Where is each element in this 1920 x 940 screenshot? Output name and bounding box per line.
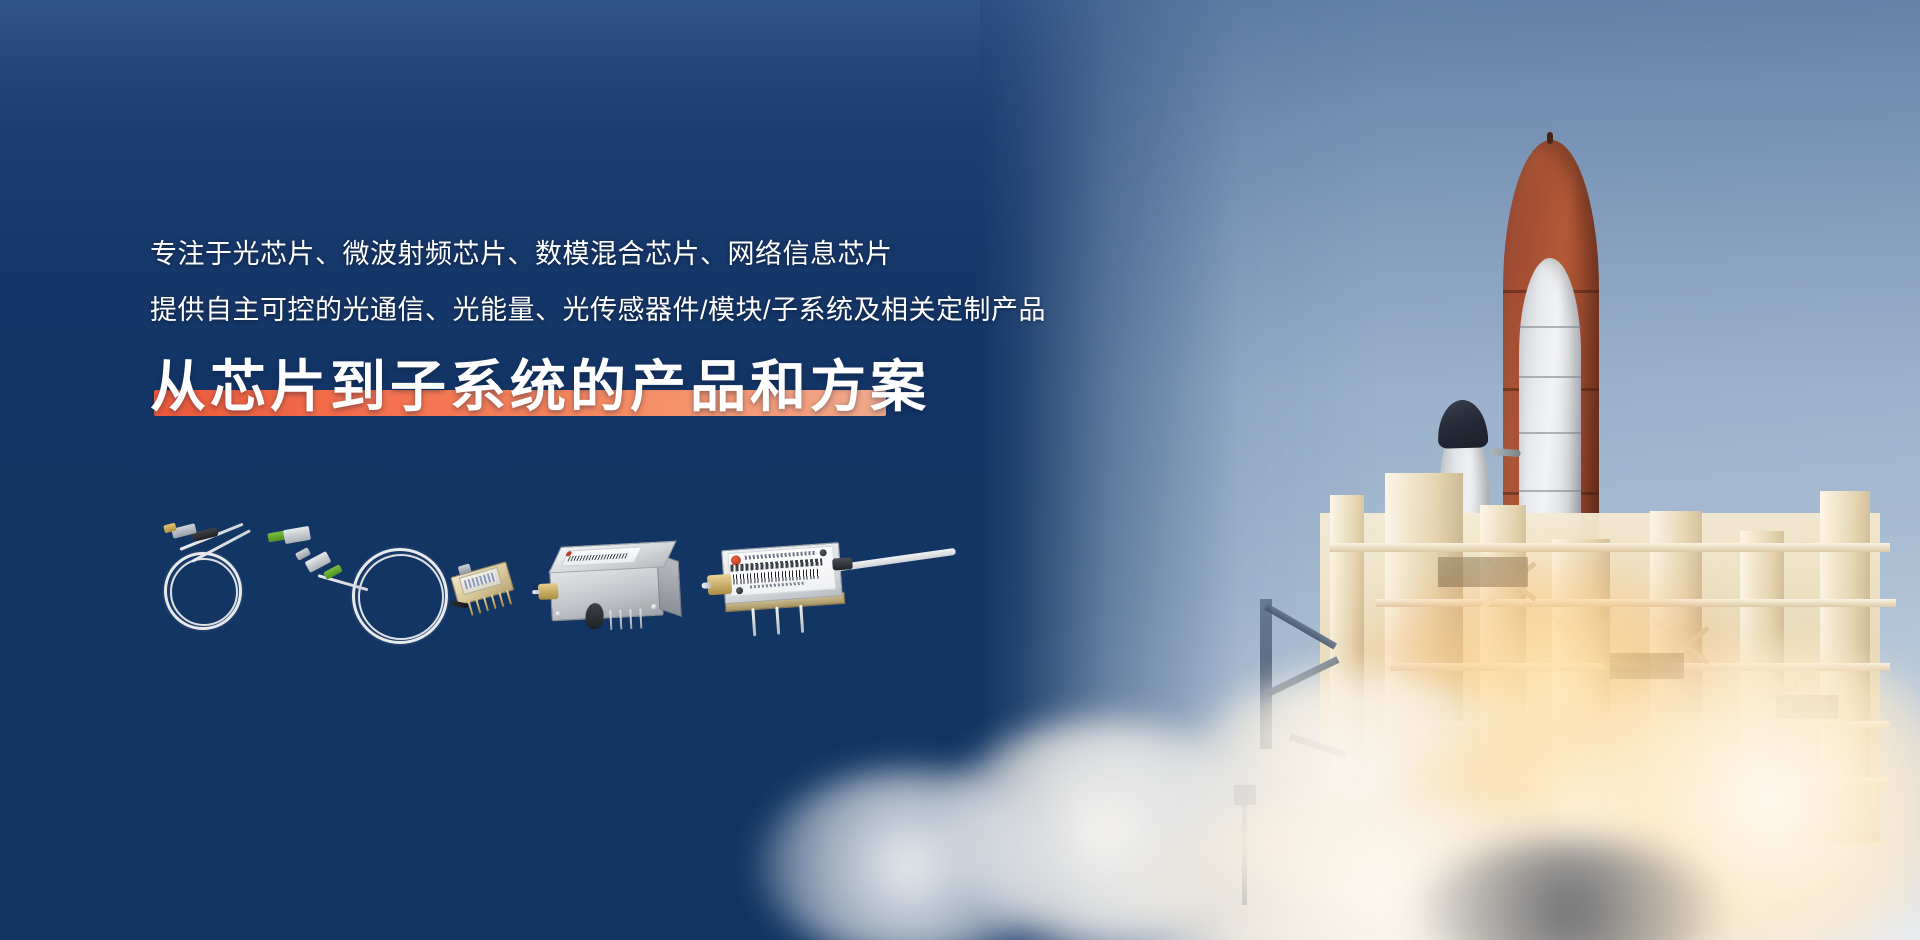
subtitle-line-1: 专注于光芯片、微波射频芯片、数模混合芯片、网络信息芯片 (150, 228, 1150, 280)
booster-band (1519, 376, 1581, 378)
butterfly-pin (498, 592, 504, 607)
product-rf-metal-module (548, 541, 680, 630)
launch-tower (1180, 495, 1920, 940)
headline-group: 从芯片到子系统的产品和方案 (150, 352, 930, 422)
booster-band (1519, 326, 1581, 328)
tower-beam (1376, 599, 1896, 607)
product-fiber-pigtail-assembly (150, 520, 310, 640)
butterfly-pin (506, 590, 512, 605)
orbiter-forward-strut (1490, 448, 1520, 457)
floodlight-head (1234, 785, 1256, 805)
booster-band (1519, 432, 1581, 434)
module-pin (775, 607, 780, 635)
subtitle-line-2: 提供自主可控的光通信、光能量、光传感器件/模块/子系统及相关定制产品 (150, 284, 1150, 336)
tower-beam (1420, 721, 1890, 729)
butterfly-pin (468, 601, 474, 616)
sma-connector (538, 583, 559, 600)
tower-beam (1330, 543, 1890, 552)
page-title: 从芯片到子系统的产品和方案 (150, 352, 930, 422)
hero-banner: 专注于光芯片、微波射频芯片、数模混合芯片、网络信息芯片 提供自主可控的光通信、光… (0, 0, 1920, 940)
module-pin (799, 605, 804, 633)
butterfly-pin (483, 596, 489, 611)
tower-beam (1438, 777, 1888, 785)
sma-center-pin (701, 582, 711, 589)
fiber-coil-inner (358, 554, 444, 640)
tower-column (1740, 531, 1784, 811)
tower-column (1385, 473, 1463, 723)
tower-column (1820, 491, 1870, 791)
product-photo-strip (150, 520, 910, 660)
floodlight-mast (1242, 795, 1247, 905)
fiber-strain-relief-boot (585, 602, 605, 629)
tower-platform (1438, 557, 1528, 587)
hero-copy-block: 专注于光芯片、微波射频芯片、数模混合芯片、网络信息芯片 提供自主可控的光通信、光… (150, 228, 1150, 422)
butterfly-pin (491, 594, 497, 609)
tower-platform (1776, 695, 1838, 719)
tower-column (1552, 539, 1610, 839)
steel-frame (1260, 599, 1272, 749)
sma-center-pin (532, 590, 540, 594)
booster-band (1519, 490, 1581, 492)
orbiter-nose-cone (1437, 399, 1488, 448)
tower-platform (1610, 653, 1684, 679)
cable-strain-relief (832, 557, 853, 570)
product-optical-receiver-module (707, 535, 863, 641)
module-pin (751, 608, 756, 636)
fiber-coil-inner (170, 558, 238, 626)
butterfly-pin (475, 599, 481, 614)
